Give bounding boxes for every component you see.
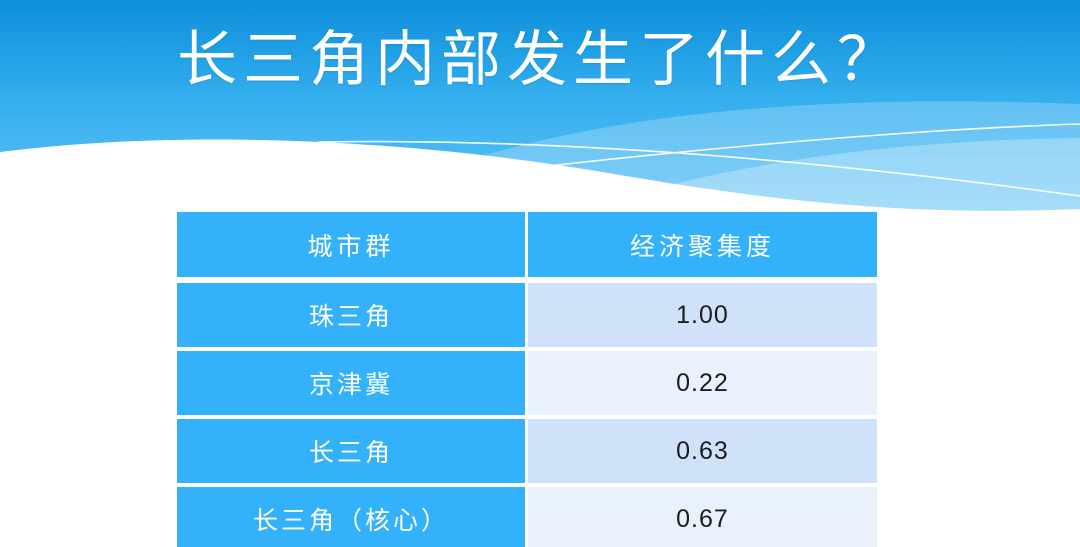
table-row: 京津冀 0.22: [177, 351, 877, 415]
column-header-city-cluster: 城市群: [177, 212, 525, 277]
column-header-economic-agglomeration: 经济聚集度: [528, 212, 877, 277]
table-header-row: 城市群 经济聚集度: [177, 212, 877, 277]
row-value-changsanjiao-core: 0.67: [528, 487, 877, 547]
slide-canvas: 长三角内部发生了什么？ 城市群 经济聚集度 珠三角 1.00 京津冀 0.22 …: [0, 0, 1080, 547]
row-label-changsanjiao: 长三角: [177, 419, 525, 483]
row-label-jingjinji: 京津冀: [177, 351, 525, 415]
table-row: 长三角（核心） 0.67: [177, 487, 877, 547]
row-label-changsanjiao-core: 长三角（核心）: [177, 487, 525, 547]
row-value-zhusanjiao: 1.00: [528, 283, 877, 347]
table-row: 长三角 0.63: [177, 419, 877, 483]
row-label-zhusanjiao: 珠三角: [177, 283, 525, 347]
row-value-changsanjiao: 0.63: [528, 419, 877, 483]
table-row: 珠三角 1.00: [177, 283, 877, 347]
page-title: 长三角内部发生了什么？: [0, 24, 1080, 96]
data-table: 城市群 经济聚集度 珠三角 1.00 京津冀 0.22 长三角 0.63 长三角…: [177, 212, 877, 547]
row-value-jingjinji: 0.22: [528, 351, 877, 415]
